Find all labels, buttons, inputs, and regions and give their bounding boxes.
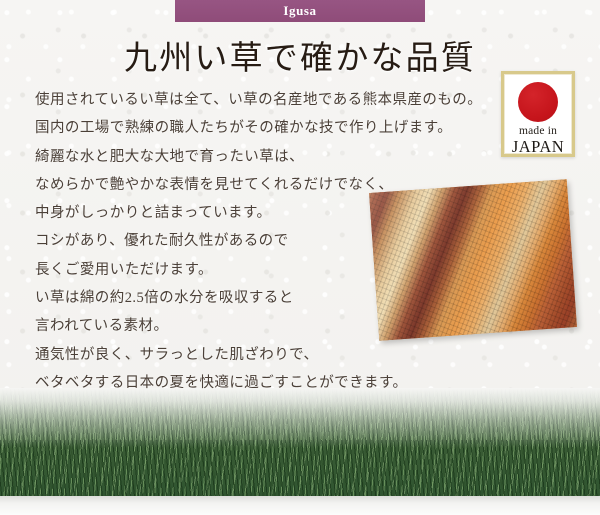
mat-photo-sheen xyxy=(369,179,577,340)
badge-country-label: JAPAN xyxy=(505,137,571,157)
made-in-japan-badge: made in JAPAN xyxy=(501,71,575,157)
igusa-quality-panel: Igusa 九州い草で確かな品質 使用されているい草は全て、い草の名産地である熊… xyxy=(0,0,600,515)
bottom-strip xyxy=(0,496,600,515)
woven-igusa-mat-photo xyxy=(369,179,577,340)
body-line: 通気性が良く、サラっとした肌ざわりで、 xyxy=(35,341,475,369)
hinomaru-icon xyxy=(518,82,558,122)
badge-inner-frame: made in JAPAN xyxy=(504,74,572,154)
badge-made-in-label: made in xyxy=(505,125,571,137)
igusa-banner-tab: Igusa xyxy=(175,0,425,22)
body-line: 使用されているい草は全て、い草の名産地である熊本県産のもの。 xyxy=(35,86,475,114)
body-line: 綺麗な水と肥大な大地で育ったい草は、 xyxy=(35,143,475,171)
body-line: 国内の工場で熟練の職人たちがその確かな技で作り上げます。 xyxy=(35,114,475,142)
body-line: ベタベタする日本の夏を快適に過ごすことができます。 xyxy=(35,369,475,397)
igusa-grass-field-photo xyxy=(0,388,600,498)
